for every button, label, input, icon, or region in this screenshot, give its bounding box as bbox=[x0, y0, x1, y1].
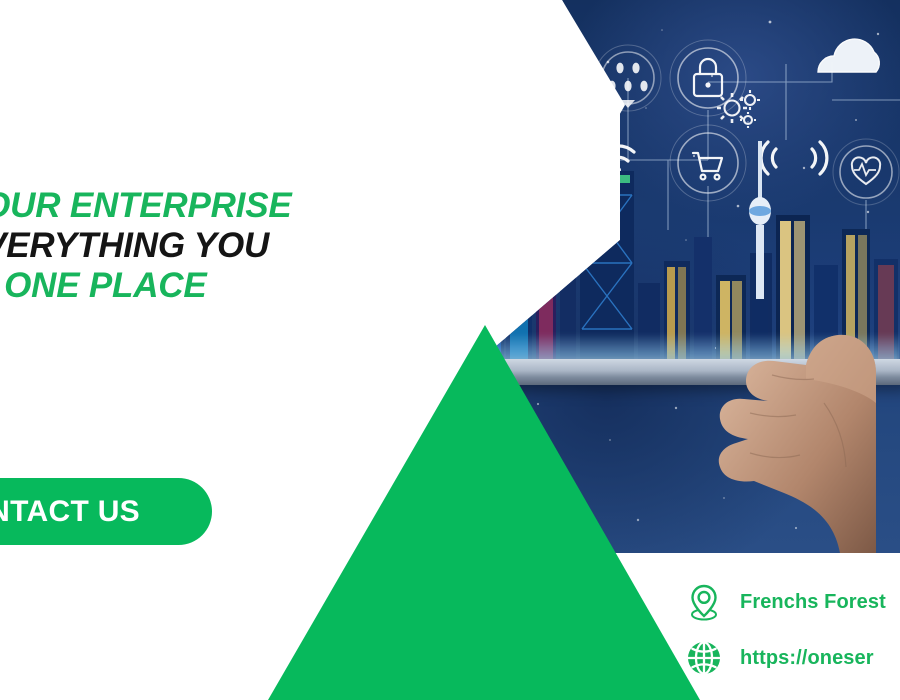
location-pin-icon bbox=[684, 582, 724, 622]
hand-holding-tablet bbox=[624, 253, 900, 553]
headline-line-2: EVERYTHING YOU bbox=[0, 226, 430, 266]
contact-us-button[interactable]: CONTACT US bbox=[0, 478, 212, 545]
headline-line-1: YOUR ENTERPRISE bbox=[0, 186, 430, 226]
contact-info: Frenchs Forest https://oneser bbox=[684, 578, 900, 682]
headline-line-3: IN ONE PLACE bbox=[0, 266, 430, 306]
contact-row-address[interactable]: Frenchs Forest bbox=[684, 578, 900, 626]
gears-icon bbox=[717, 90, 760, 128]
contact-row-website[interactable]: https://oneser bbox=[684, 634, 900, 682]
website-text: https://oneser bbox=[740, 647, 874, 670]
promo-banner: YOUR ENTERPRISE EVERYTHING YOU IN ONE PL… bbox=[0, 0, 900, 700]
cloud-icon bbox=[818, 39, 879, 72]
page-title: YOUR ENTERPRISE EVERYTHING YOU IN ONE PL… bbox=[0, 186, 430, 306]
globe-icon bbox=[684, 638, 724, 678]
address-text: Frenchs Forest bbox=[740, 591, 886, 614]
lock-icon bbox=[670, 40, 746, 116]
